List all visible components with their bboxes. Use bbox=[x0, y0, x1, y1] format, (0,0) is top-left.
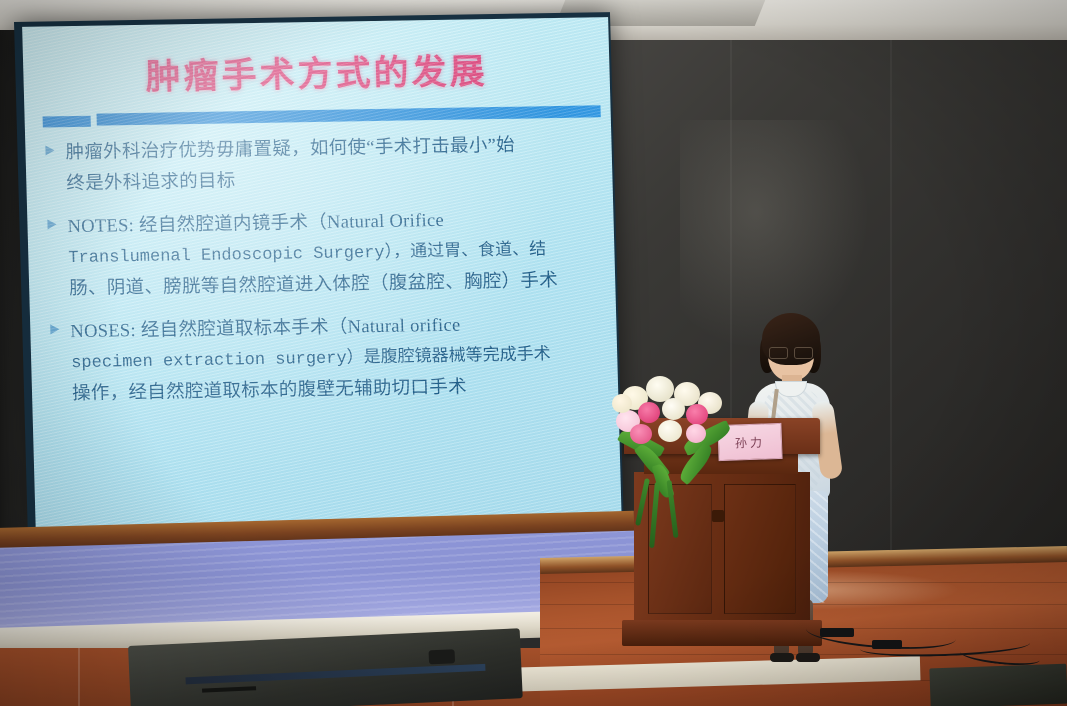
left-shoe bbox=[770, 653, 794, 662]
slide-bullet-list: 肿瘤外科治疗优势毋庸置疑，如何使“手术打击最小”始 终是外科追求的目标 NOTE… bbox=[35, 129, 611, 422]
arrow-bullet-icon bbox=[50, 324, 59, 334]
slide-surface: 肿瘤手术方式的发展 肿瘤外科治疗优势毋庸置疑，如何使“手术打击最小”始 终是外科… bbox=[22, 17, 622, 535]
rule-segment-right bbox=[97, 105, 601, 125]
right-shoe bbox=[796, 653, 820, 662]
floor-speaker bbox=[929, 664, 1067, 706]
cable-adapter bbox=[820, 628, 854, 637]
bullet-item-1: 肿瘤外科治疗优势毋庸置疑，如何使“手术打击最小”始 终是外科追求的目标 bbox=[35, 129, 605, 200]
monitor-stand bbox=[429, 649, 456, 664]
cable-adapter bbox=[872, 640, 902, 649]
projection-screen: 肿瘤手术方式的发展 肿瘤外科治疗优势毋庸置疑，如何使“手术打击最小”始 终是外科… bbox=[14, 12, 624, 542]
bullet-item-2: NOTES: 经自然腔道内镜手术（Natural Orifice Translu… bbox=[37, 203, 607, 305]
monitor-vent bbox=[202, 686, 256, 692]
arrow-bullet-icon bbox=[47, 219, 56, 229]
title-underline-rule bbox=[43, 105, 601, 127]
bullet-item-3: NOSES: 经自然腔道取标本手术（Natural orifice specim… bbox=[40, 308, 610, 410]
arrow-bullet-icon bbox=[45, 145, 54, 155]
floral-arrangement bbox=[612, 358, 742, 558]
slide-title: 肿瘤手术方式的发展 bbox=[23, 41, 610, 102]
glasses-icon bbox=[769, 347, 813, 357]
conference-photo-scene: 肿瘤手术方式的发展 肿瘤外科治疗优势毋庸置疑，如何使“手术打击最小”始 终是外科… bbox=[0, 0, 1067, 706]
rule-segment-left bbox=[43, 116, 91, 128]
podium-base bbox=[622, 620, 822, 646]
monitor-back-bar bbox=[185, 664, 485, 685]
